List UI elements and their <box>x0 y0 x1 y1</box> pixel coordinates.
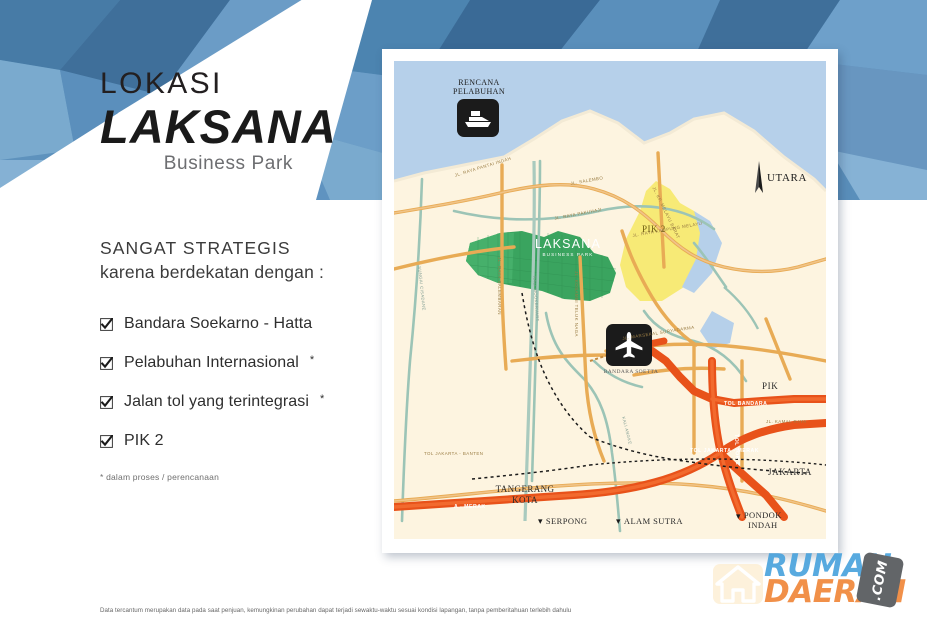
disclaimer-text: Data tercantum merupakan data pada saat … <box>100 607 571 614</box>
road-label-9: JL. KOSAMBI TELUK NAGA <box>574 271 579 337</box>
list-item: Bandara Soekarno - Hatta <box>100 315 390 333</box>
north-label: UTARA <box>767 172 807 184</box>
check-icon <box>100 435 113 448</box>
highway-label-tol-jakarta-banten: TOL JAKARTA - BANTEN <box>424 451 483 456</box>
destination-label-wrap: PONDOK INDAH <box>744 511 782 531</box>
highway-label-tol-bandara: TOL BANDARA <box>724 401 767 407</box>
footnote: * dalam proses / perencanaan <box>100 472 390 482</box>
chevron-down-icon: ▾ <box>736 512 741 521</box>
chevron-down-icon: ▾ <box>616 517 621 526</box>
map-card: RENCANA PELABUHAN BANDARA SOETTA <box>382 49 838 553</box>
estate-name: LAKSANA <box>522 237 614 251</box>
highway-label-tol-jakarta-merak: TOL JAKARTA - MERAK <box>690 448 759 454</box>
port-badge-label: RENCANA PELABUHAN <box>436 78 522 96</box>
list-item-asterisk: * <box>310 354 314 366</box>
page-eyebrow: LOKASI <box>100 68 390 100</box>
benefit-list: Bandara Soekarno - Hatta Pelabuhan Inter… <box>100 315 390 450</box>
highway-label-merak-left: A - MERAK <box>454 504 486 510</box>
list-item: Pelabuhan Internasional* <box>100 354 390 372</box>
info-column: LOKASI LAKSANA Business Park SANGAT STRA… <box>100 68 390 482</box>
destination-label: ALAM SUTRA <box>624 516 683 526</box>
north-arrow-icon <box>752 161 766 195</box>
tangerang-line-2: KOTA <box>490 495 560 506</box>
place-label-tangerang: TANGERANG KOTA <box>490 484 560 507</box>
destination-pondok-indah: ▾ PONDOK INDAH <box>736 511 782 531</box>
watermark-tld: .COM <box>869 559 891 602</box>
destination-label: SERPONG <box>546 516 588 526</box>
list-item-label: Pelabuhan Internasional <box>124 354 299 372</box>
place-label-jakarta: JAKARTA <box>768 467 812 477</box>
list-item: PIK 2 <box>100 432 390 450</box>
strategic-line-2: karena berdekatan dengan : <box>100 261 390 285</box>
check-icon <box>100 357 113 370</box>
port-label-line-2: PELABUHAN <box>436 87 522 96</box>
place-label-pik: PIK <box>762 381 778 391</box>
poster-root: LOKASI LAKSANA Business Park SANGAT STRA… <box>0 0 927 618</box>
list-item-asterisk: * <box>320 393 324 405</box>
page-title: LAKSANA <box>100 102 390 152</box>
destination-alam-sutra: ▾ ALAM SUTRA <box>616 516 683 526</box>
strategic-line-1: SANGAT STRATEGIS <box>100 237 390 261</box>
chevron-down-icon: ▾ <box>538 517 543 526</box>
list-item: Jalan tol yang terintegrasi* <box>100 393 390 411</box>
list-item-label: Bandara Soekarno - Hatta <box>124 315 312 333</box>
ship-icon[interactable] <box>457 99 499 137</box>
house-icon <box>712 558 764 606</box>
north-arrow: UTARA <box>752 161 807 195</box>
estate-label: LAKSANA BUSINESS PARK <box>522 237 614 257</box>
destination-label-line-2: INDAH <box>744 521 782 531</box>
road-label-8: JL. RAYA SALEMBARAN <box>497 257 502 315</box>
map-canvas[interactable]: RENCANA PELABUHAN BANDARA SOETTA <box>394 61 826 539</box>
tangerang-line-1: TANGERANG <box>490 484 560 495</box>
estate-sub: BUSINESS PARK <box>522 252 614 257</box>
port-label-line-1: RENCANA <box>436 78 522 87</box>
road-label-6: JL. KAMAL RAYA <box>766 419 807 424</box>
airplane-icon[interactable] <box>606 324 652 366</box>
page-subtitle: Business Park <box>100 153 293 175</box>
strategic-heading: SANGAT STRATEGIS karena berdekatan denga… <box>100 237 390 284</box>
watermark-logo: RUMAH DAERAH .COM <box>712 552 922 610</box>
check-icon <box>100 396 113 409</box>
check-icon <box>100 318 113 331</box>
destination-serpong: ▾ SERPONG <box>538 516 587 526</box>
list-item-label: PIK 2 <box>124 432 164 450</box>
list-item-label: Jalan tol yang terintegrasi <box>124 393 309 411</box>
airport-badge-label: BANDARA SOETTA <box>592 369 670 375</box>
